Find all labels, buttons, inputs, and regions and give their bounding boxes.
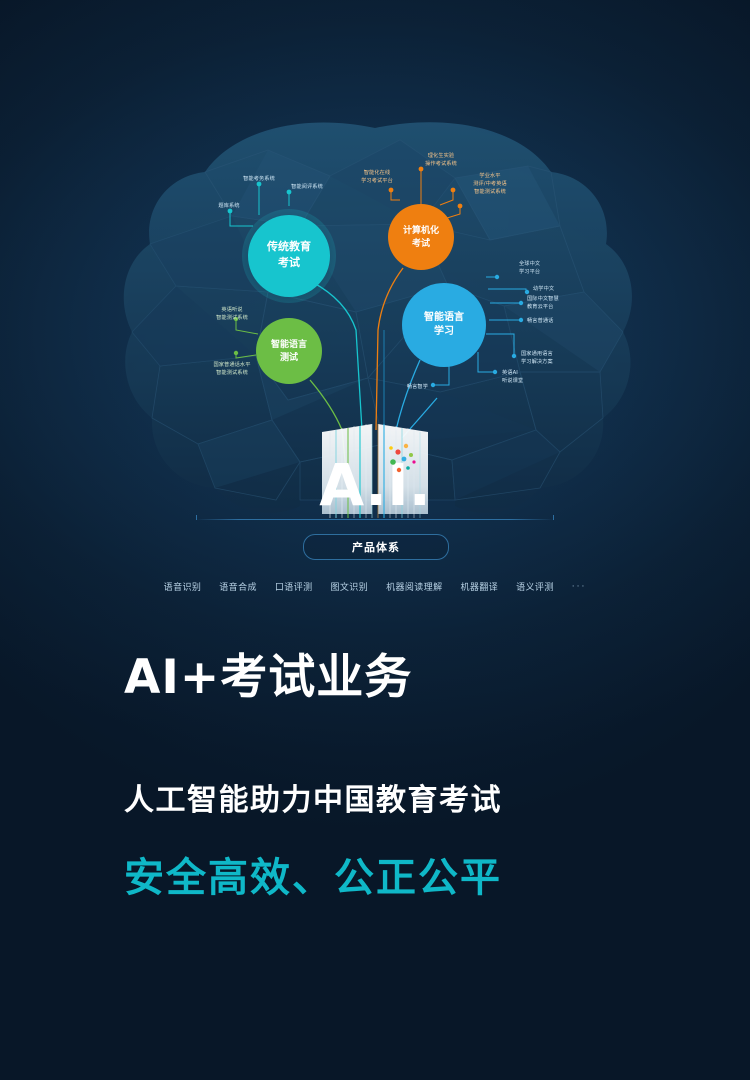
leaf-label-global-chinese-2: 学习平台 (519, 267, 540, 275)
ground-line (196, 519, 554, 520)
node-label-line1: 计算机化 (403, 224, 439, 236)
leaf-label-zhineng-kaowu: 智能考务系统 (243, 174, 275, 182)
node-label-line2: 测试 (280, 351, 298, 363)
page-slogan: 安全高效、公正公平 (0, 819, 750, 903)
product-system-label: 产品体系 (352, 539, 400, 555)
capability-tag-list: 语音识别 语音合成 口语评测 图文识别 机器阅读理解 机器翻译 语义评测 ··· (0, 580, 750, 593)
tag-speech-synthesis[interactable]: 语音合成 (219, 580, 257, 593)
leaf-label-online-exam-1: 智能化在线 (364, 168, 390, 176)
leaf-label-english-listening-2: 智能测试系统 (216, 313, 248, 321)
leaf-label-global-chinese-1: 全球中文 (519, 259, 541, 267)
leaf-label-national-language-1: 国家通用语言 (521, 349, 553, 357)
product-system-button[interactable]: 产品体系 (303, 534, 449, 560)
node-label-line2: 学习 (434, 324, 454, 337)
tag-speech-recognition[interactable]: 语音识别 (164, 580, 202, 593)
leaf-label-english-listening-1: 英语听说 (221, 305, 242, 313)
leaf-label-academic-2: 测评/中考英语 (473, 179, 507, 187)
leaf-label-english-ai-2: 听说课堂 (502, 376, 523, 384)
leaf-label-intl-chinese-1: 国际中文智慧 (527, 294, 559, 302)
node-intelligent-language-learning: 智能语言 学习 (402, 283, 486, 367)
tag-machine-translation[interactable]: 机器翻译 (461, 580, 499, 593)
leaf-label-changyan-mandarin: 畅言普通话 (527, 316, 553, 324)
brain-tree-illustration: 传统教育 考试 计算机化 考试 智能语言 学习 智能语言 测试 (0, 0, 750, 660)
node-computerized-exam: 计算机化 考试 (388, 204, 454, 270)
leaf-label-academic-1: 学业水平 (479, 171, 500, 179)
leaf-label-lab-exam-2: 操作考试系统 (425, 159, 457, 167)
node-label-line1: 智能语言 (271, 338, 307, 350)
tag-machine-reading-comprehension[interactable]: 机器阅读理解 (386, 580, 442, 593)
headline-block: AI+考试业务 人工智能助力中国教育考试 安全高效、公正公平 (0, 650, 750, 903)
page-title: AI+考试业务 (0, 650, 750, 705)
node-label-line1: 传统教育 (266, 239, 311, 253)
node-intelligent-language-testing: 智能语言 测试 (256, 318, 322, 384)
leaf-label-mandarin-test-2: 智能测试系统 (216, 368, 248, 376)
tag-more-ellipsis[interactable]: ··· (572, 582, 587, 592)
node-label-line2: 考试 (412, 237, 430, 249)
leaf-label-mandarin-test-1: 国家普通话水平 (213, 360, 250, 368)
leaf-label-online-exam-2: 学习考试平台 (361, 176, 393, 184)
page-subtitle: 人工智能助力中国教育考试 (0, 705, 750, 819)
leaf-label-lab-exam-1: 理化生实验 (428, 151, 455, 159)
leaf-label-youxue-chinese: 幼学中文 (533, 284, 555, 292)
leaf-label-academic-3: 智能测试系统 (474, 187, 506, 195)
tag-image-text-recognition[interactable]: 图文识别 (331, 580, 369, 593)
leaf-label-changyan-zhixue: 畅言智学 (407, 382, 428, 390)
leaf-label-intl-chinese-2: 教育云平台 (527, 302, 553, 310)
tag-oral-assessment[interactable]: 口语评测 (275, 580, 313, 593)
leaf-label-zhineng-yueping: 智能阅评系统 (291, 182, 323, 190)
node-label-line1: 智能语言 (424, 310, 464, 323)
leaf-label-tiku: 题库系统 (218, 201, 239, 209)
leaf-label-national-language-2: 学习解决方案 (521, 357, 553, 365)
leaf-label-english-ai-1: 英语AI (502, 368, 518, 376)
node-traditional-education-exam: 传统教育 考试 (242, 209, 336, 303)
node-label-line2: 考试 (278, 255, 300, 269)
tag-semantic-assessment[interactable]: 语义评测 (516, 580, 554, 593)
poster-page: 传统教育 考试 计算机化 考试 智能语言 学习 智能语言 测试 (0, 0, 750, 1080)
